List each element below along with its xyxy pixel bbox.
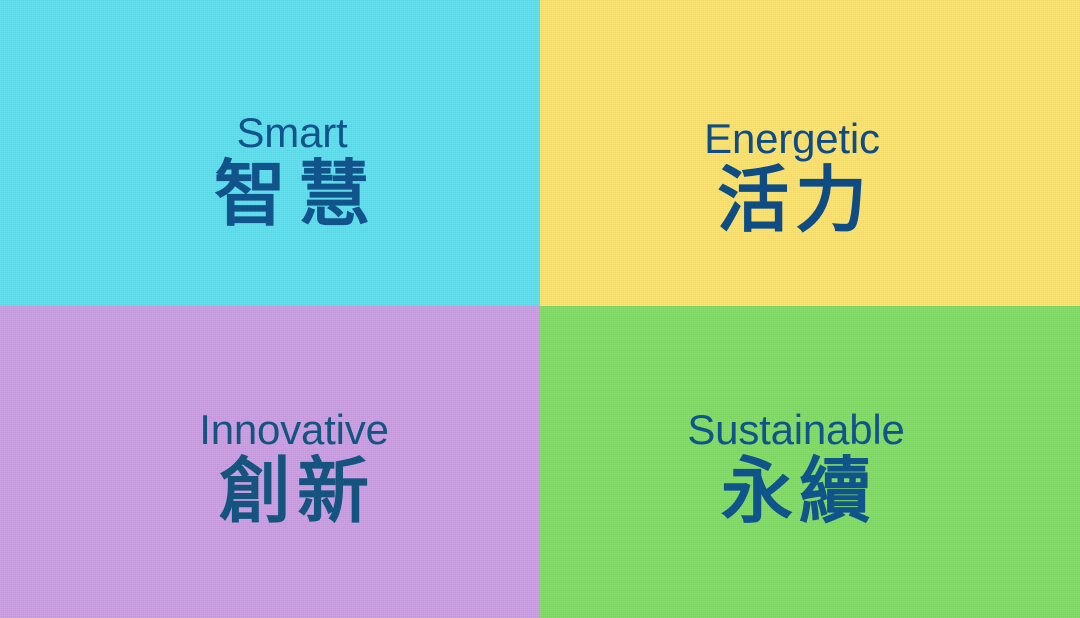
value-card-smart: Smart 智慧 [0,0,540,306]
value-card-innovative: Innovative 創新 [0,306,540,618]
value-label-cjk-smart: 智慧 [202,155,382,236]
value-card-energetic-content: Energetic 活力 [704,117,880,241]
value-label-en-sustainable: Sustainable [687,408,904,452]
value-label-cjk-innovative: 創新 [213,452,375,533]
value-card-innovative-content: Innovative 創新 [199,408,388,532]
value-card-energetic: Energetic 活力 [540,0,1080,306]
value-label-cjk-energetic: 活力 [711,161,873,242]
brand-values-poster: Smart 智慧 Energetic 活力 Innovative 創新 Sust… [0,0,1080,618]
value-label-en-smart: Smart [236,111,347,155]
value-label-cjk-sustainable: 永續 [715,452,877,533]
value-card-sustainable: Sustainable 永續 [540,306,1080,618]
value-card-sustainable-content: Sustainable 永續 [687,408,904,532]
value-label-en-innovative: Innovative [199,408,388,452]
value-card-smart-content: Smart 智慧 [202,111,382,235]
value-label-en-energetic: Energetic [704,117,880,161]
value-grid: Smart 智慧 Energetic 活力 Innovative 創新 Sust… [0,0,1080,618]
